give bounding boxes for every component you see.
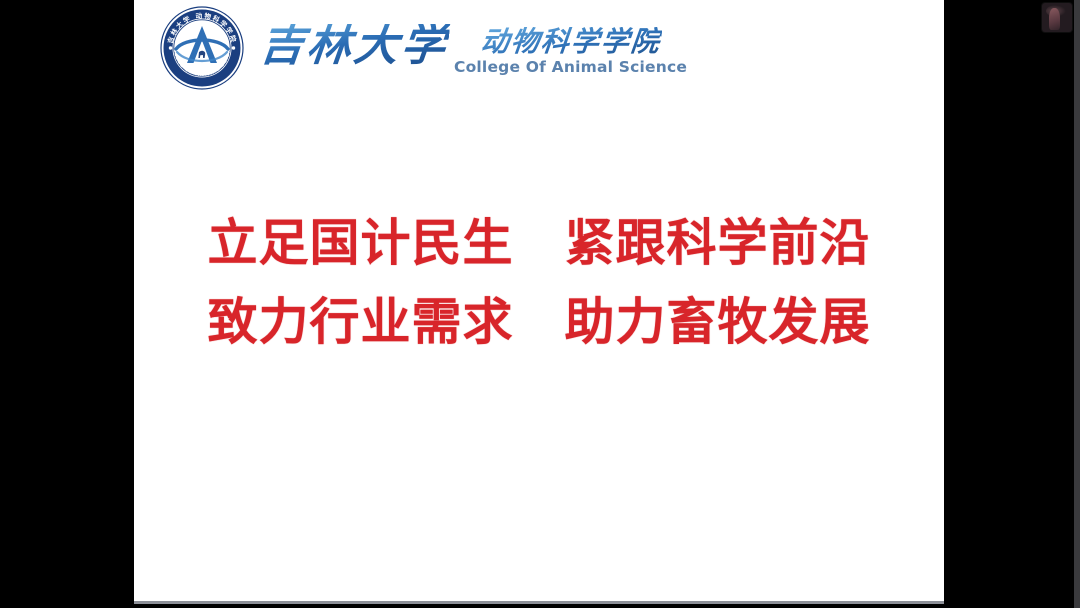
shared-slide: 吉林大学 动物科学学院 COLLEGE OF ANIMAL SCIENCE [134,0,944,604]
university-name-cn: 吉林大学 [258,24,451,68]
letterbox-bar-left [0,0,134,608]
wordmark: 吉林大学 动物科学学院 College Of Animal Science [260,20,687,75]
university-crest-icon: 吉林大学 动物科学学院 COLLEGE OF ANIMAL SCIENCE [158,4,246,92]
college-name-cn: 动物科学学院 [479,27,662,56]
screen-share-viewer: 吉林大学 动物科学学院 COLLEGE OF ANIMAL SCIENCE [0,0,1080,608]
college-name-block: 动物科学学院 College Of Animal Science [454,24,687,75]
institution-logo-lockup: 吉林大学 动物科学学院 COLLEGE OF ANIMAL SCIENCE [158,4,687,92]
slogan-line-2: 致力行业需求 助力畜牧发展 [134,283,944,362]
letterbox-bar-right [944,0,1080,608]
college-name-en: College Of Animal Science [454,59,687,76]
slide-slogan: 立足国计民生 紧跟科学前沿 致力行业需求 助力畜牧发展 [134,204,944,362]
window-edge-strip [1074,0,1080,608]
slide-bottom-rule [134,601,944,604]
pip-person-silhouette [1049,8,1060,30]
self-view-thumbnail[interactable] [1042,3,1072,32]
slogan-line-1: 立足国计民生 紧跟科学前沿 [134,204,944,283]
